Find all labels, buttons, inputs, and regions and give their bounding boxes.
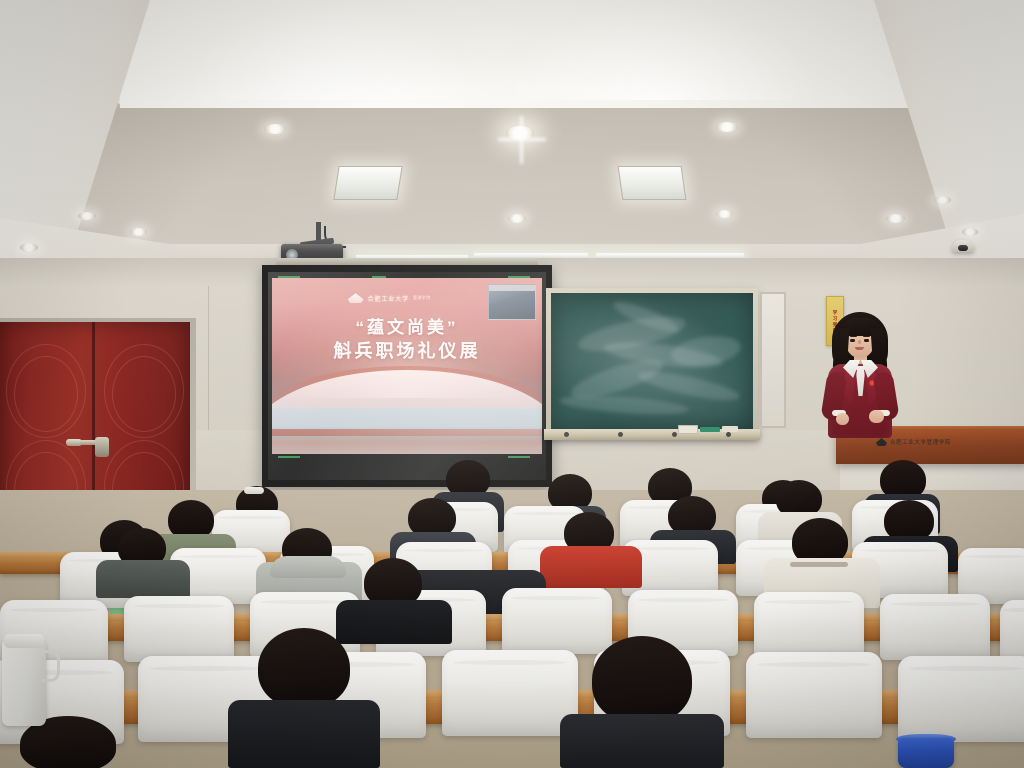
chalk-box[interactable] [678,425,698,434]
chalk-stick[interactable] [722,426,738,432]
slide-logo-text: 合肥工业大学 [368,294,409,303]
hoodie-hood [270,556,346,578]
light-flare [498,116,546,164]
side-whiteboard [760,292,786,428]
ceiling-glow-right [500,0,820,100]
university-crest-icon [876,438,887,446]
chair[interactable] [502,588,612,654]
ceiling-glow-left [180,0,480,100]
downlight-icon [962,228,978,236]
presenter-nose [858,340,861,344]
downlight-icon [716,210,733,218]
camera-lens-icon [958,245,968,251]
downlight-icon [20,243,38,252]
ceiling-troffer-light [333,166,402,200]
chair[interactable] [124,596,234,662]
chair[interactable] [442,650,578,736]
presenter-hand-left [836,413,849,425]
ceiling-troffer-light [618,166,687,200]
chalkboard [551,293,753,429]
downlight-icon [934,196,951,204]
slide-inset-titlebar [489,285,535,291]
thermos-cup[interactable] [2,640,46,726]
ledge-clip [564,432,569,437]
audience-torso-red [540,546,642,588]
slide-logo-subtext: 管理学院 [413,295,431,301]
chair[interactable] [880,594,990,660]
ledge-clip [618,432,623,437]
podium-sign-text: 合肥工业大学管理学院 [890,438,951,446]
presentation-slide: 合肥工业大学 管理学院 “蕴文尚美” 斛兵职场礼仪展 [272,278,542,454]
slide-video-inset [488,284,536,320]
chair[interactable] [754,592,864,658]
registration-mark [278,456,300,458]
lanyard [790,562,848,567]
chair[interactable] [746,652,882,738]
audience-head-foreground [258,628,350,708]
thermos-lid[interactable] [4,634,44,648]
podium-sign: 合肥工业大学管理学院 [876,438,951,446]
blue-cup[interactable] [898,738,954,768]
thermos-handle[interactable] [41,650,60,682]
audience-head-foreground [592,636,692,724]
downlight-icon [886,214,905,223]
downlight-icon [78,212,96,220]
slide-accent-bar [272,429,542,436]
slide-title-line-2: 斛兵职场礼仪展 [272,339,542,364]
downlight-icon [716,122,738,132]
ledge-clip [726,432,731,437]
hairclip-icon [244,487,264,494]
lecture-hall-photo: 合肥工业大学 管理学院 “蕴文尚美” 斛兵职场礼仪展 学 习 强 国 [0,0,1024,768]
slide-title-block: “蕴文尚美” 斛兵职场礼仪展 [272,317,542,364]
audience-torso [96,560,190,598]
slide-university-logo: 合肥工业大学 管理学院 [348,289,483,308]
downlight-icon [130,228,147,236]
audience-torso [336,600,452,644]
presenter [812,310,908,438]
downlight-icon [508,214,526,223]
chalkboard-eraser[interactable] [700,427,720,432]
audience-torso-foreground [228,700,380,768]
slide-title-line-1: “蕴文尚美” [272,317,542,339]
ledge-clip [672,432,677,437]
door-lock-icon[interactable] [95,437,109,457]
university-crest-icon [348,293,364,303]
chair[interactable] [898,656,1024,742]
audience-torso-foreground [560,714,724,768]
downlight-icon [264,124,286,134]
registration-mark [508,456,530,458]
presenter-hand-right [869,410,884,423]
